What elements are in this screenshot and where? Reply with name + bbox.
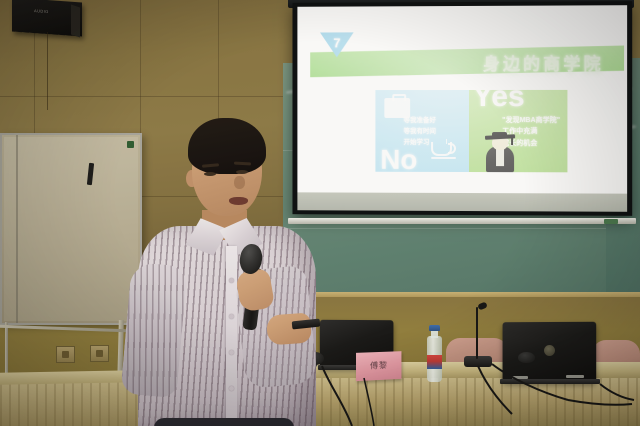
presenter-shirt-placket xyxy=(226,246,237,422)
briefcase-icon xyxy=(384,98,410,118)
slide-panel-yes: Yes "发现MBA商学院" 工作中充满 成长的机会 xyxy=(469,90,567,173)
water-bottle-label xyxy=(427,355,442,369)
projector-screen-bottom-bar xyxy=(288,218,636,224)
projector-screen: 7 身边的商学院 等我准备好 等我有时间 开始学习 No xyxy=(292,1,632,216)
slide-panel-no-line-1: 等我准备好 xyxy=(404,116,436,127)
projector-screen-surface: 7 身边的商学院 等我准备好 等我有时间 开始学习 No xyxy=(297,5,627,193)
whiteboard-surface xyxy=(4,137,138,321)
presenter-trousers xyxy=(154,418,294,426)
whiteboard xyxy=(0,133,142,325)
saucer-icon xyxy=(431,157,456,159)
slide-panel-yes-line-1: "发现MBA商学院" xyxy=(502,115,560,127)
presenter xyxy=(130,118,330,426)
slide-panel-no: 等我准备好 等我有时间 开始学习 No xyxy=(376,90,469,172)
wall-outlet xyxy=(90,345,109,362)
laptop-right-latch xyxy=(566,375,584,378)
coffee-cup-icon xyxy=(431,142,452,156)
presenter-mouth xyxy=(229,197,248,205)
shirt-button xyxy=(229,314,234,319)
speaker-cable xyxy=(47,32,48,110)
presentation-slide: 7 身边的商学院 等我准备好 等我有时间 开始学习 No xyxy=(297,5,627,193)
slide-title: 身边的商学院 xyxy=(483,50,604,75)
projector-screen-dead-area xyxy=(297,192,627,211)
slide-word-yes: Yes xyxy=(473,80,525,114)
projector-screen-tab xyxy=(604,219,618,224)
presenter-hand-holding-clicker xyxy=(266,313,312,346)
wall-speaker-side xyxy=(71,5,80,38)
graduate-icon xyxy=(483,128,517,172)
gooseneck-microphone-base[interactable] xyxy=(464,356,492,367)
graduate-tassel xyxy=(511,137,513,145)
wall-outlet xyxy=(56,346,75,363)
shirt-button xyxy=(229,278,234,283)
panel-divider xyxy=(283,228,640,229)
mouse[interactable] xyxy=(518,352,535,363)
water-bottle-cap xyxy=(429,325,440,331)
name-card: 傅黎 xyxy=(356,351,401,381)
slide-body: 等我准备好 等我有时间 开始学习 No Yes "发现MBA商学院" xyxy=(376,90,567,173)
laptop-logo xyxy=(544,345,555,356)
shirt-button xyxy=(229,350,234,355)
laptop-right-lid[interactable] xyxy=(503,322,597,382)
whiteboard-hinge xyxy=(16,135,18,323)
presenter-eye-right xyxy=(236,170,248,174)
water-bottle-neck xyxy=(431,330,438,338)
speaker-label: AUDIO xyxy=(34,8,49,14)
slide-panel-no-line-2: 等我有时间 xyxy=(404,127,436,138)
shirt-button xyxy=(229,386,234,391)
table-skirt xyxy=(276,378,640,426)
presenter-hair xyxy=(188,118,266,174)
graduate-collar xyxy=(496,148,504,166)
name-card-text: 傅黎 xyxy=(356,359,401,372)
presentation-clicker[interactable] xyxy=(292,319,321,330)
slide-word-no: No xyxy=(380,144,417,176)
presenter-nose xyxy=(234,176,245,189)
lecture-room-photo: AUDIO 7 身边的商学院 等我准备好 xyxy=(0,0,640,426)
presenter-left-arm xyxy=(120,262,187,398)
gooseneck-microphone-stem xyxy=(476,307,478,359)
wall-seam xyxy=(0,96,300,97)
laptop-right-base[interactable] xyxy=(500,379,600,384)
presenter-eye-left xyxy=(204,172,216,176)
slide-page-number: 7 xyxy=(320,35,354,50)
